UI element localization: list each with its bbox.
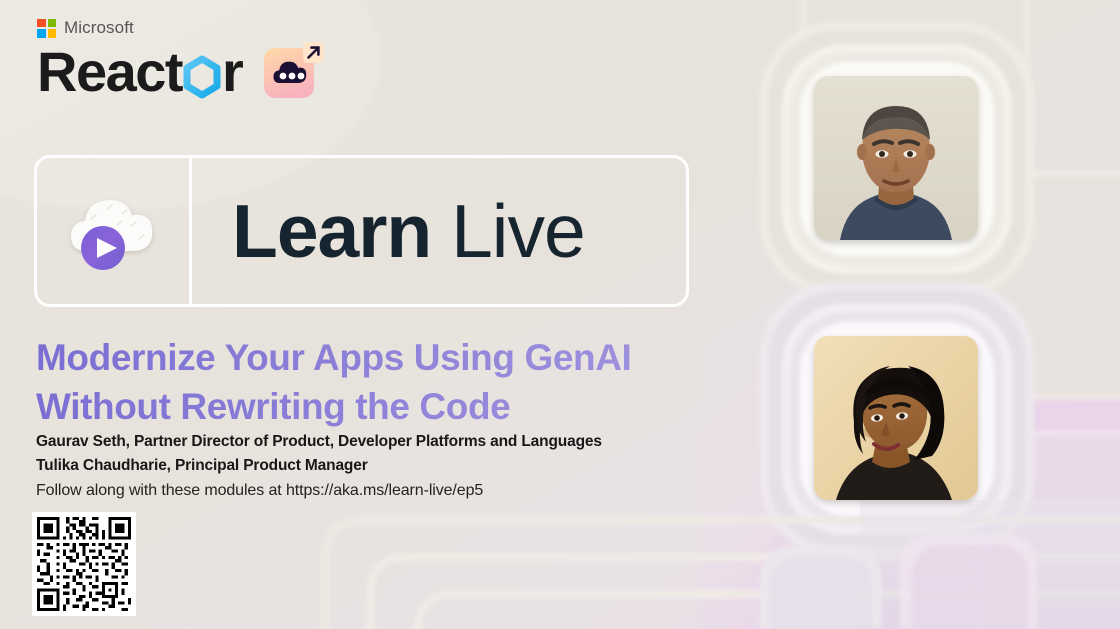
learn-live-word-live: Live [451,189,585,273]
microsoft-wordmark: Microsoft [64,18,134,38]
follow-along-line: Follow along with these modules at https… [36,479,766,504]
page-title-line2: Without Rewriting the Code [36,382,756,431]
cloud-play-icon [59,181,167,282]
speaker-photo-tulika-chaudharie [778,300,1016,538]
learn-live-icon-cell [37,158,192,304]
reactor-wordmark: React r [37,44,242,100]
speaker-photo-gaurav-seth [778,40,1016,278]
page-title: Modernize Your Apps Using GenAI Without … [36,333,756,431]
speaker-details: Gaurav Seth, Partner Director of Product… [36,430,766,504]
learn-live-text-cell: Learn Live [192,158,686,304]
reactor-wordmark-part1: React [37,44,182,100]
microsoft-squares-icon [37,19,56,38]
learn-live-badge: Learn Live [34,155,689,307]
learn-live-word-learn: Learn [232,189,431,273]
reactor-cloud-icon [262,40,326,104]
qr-code[interactable] [32,512,136,616]
hexagon-o-icon [182,52,222,96]
microsoft-reactor-logo: Microsoft React r [37,18,326,104]
speaker-1-line: Gaurav Seth, Partner Director of Product… [36,430,766,454]
speaker-2-line: Tulika Chaudharie, Principal Product Man… [36,454,766,478]
avatar [814,76,978,240]
learn-live-title: Learn Live [232,194,585,269]
reactor-wordmark-part2: r [222,44,242,100]
page-title-line1: Modernize Your Apps Using GenAI [36,333,756,382]
microsoft-logo: Microsoft [37,18,326,38]
avatar [814,336,978,500]
